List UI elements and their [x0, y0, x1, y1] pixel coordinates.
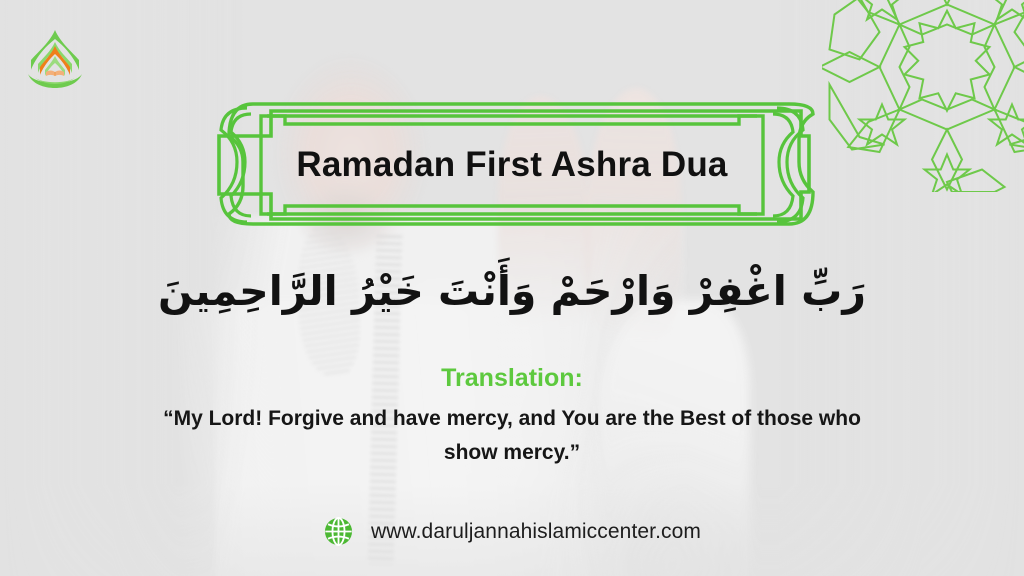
globe-icon — [323, 516, 354, 547]
translation-text: “My Lord! Forgive and have mercy, and Yo… — [147, 402, 877, 470]
website-url[interactable]: www.daruljannahislamiccenter.com — [371, 520, 701, 544]
page-title: Ramadan First Ashra Dua — [207, 100, 817, 230]
dua-arabic-text: رَبِّ اغْفِرْ وَارْحَمْ وَأَنْتَ خَيْرُ … — [0, 262, 1024, 320]
translation-label: Translation: — [0, 364, 1024, 393]
footer: www.daruljannahislamiccenter.com — [0, 516, 1024, 547]
poster-canvas: Ramadan First Ashra Dua رَبِّ اغْفِرْ وَ… — [0, 0, 1024, 576]
title-frame: Ramadan First Ashra Dua — [207, 100, 817, 230]
mosque-dome-book-logo-icon — [22, 26, 88, 90]
